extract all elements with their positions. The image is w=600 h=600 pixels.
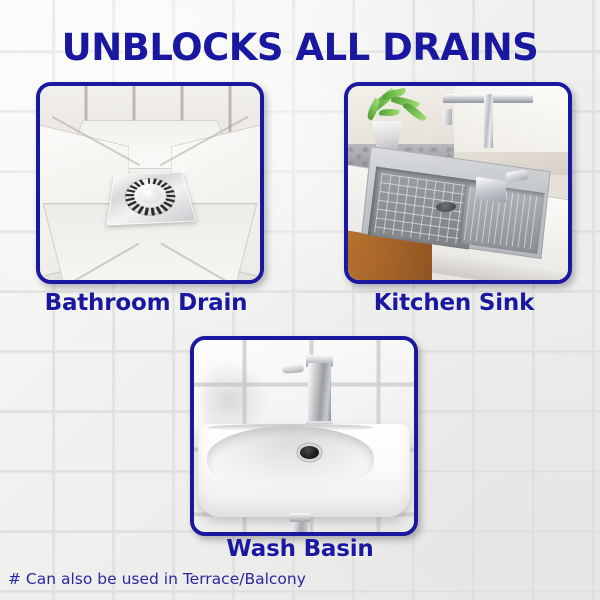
- panel-bathroom-drain: [36, 82, 264, 284]
- poster-canvas: UNBLOCKS ALL DRAINS: [0, 0, 600, 600]
- basin-pipe-collar: [289, 513, 311, 522]
- sink-bottom-grid: [374, 173, 470, 245]
- caption-wash-basin: Wash Basin: [190, 536, 410, 562]
- photo-wash-basin: [194, 340, 414, 532]
- floor-drain-grate: [106, 172, 196, 225]
- drain-disc: [123, 177, 179, 217]
- photo-bathroom-drain: [40, 86, 260, 280]
- basin-tap-lever: [282, 364, 305, 374]
- basin-mixer-tap: [308, 363, 331, 423]
- faucet-column: [484, 94, 493, 148]
- basin-overflow-hole: [300, 446, 319, 459]
- footnote-text: # Can also be used in Terrace/Balcony: [8, 570, 306, 588]
- panel-kitchen-sink: [344, 82, 572, 284]
- caption-kitchen-sink: Kitchen Sink: [344, 290, 564, 316]
- caption-bathroom-drain: Bathroom Drain: [36, 290, 256, 316]
- drain-center-boss: [139, 186, 162, 203]
- faucet-base: [476, 177, 506, 203]
- panel-wash-basin: [190, 336, 418, 536]
- photo-kitchen-sink: [348, 86, 568, 280]
- faucet-spout-drop: [443, 109, 452, 125]
- page-title: UNBLOCKS ALL DRAINS: [0, 26, 600, 69]
- basin-bowl: [207, 426, 374, 489]
